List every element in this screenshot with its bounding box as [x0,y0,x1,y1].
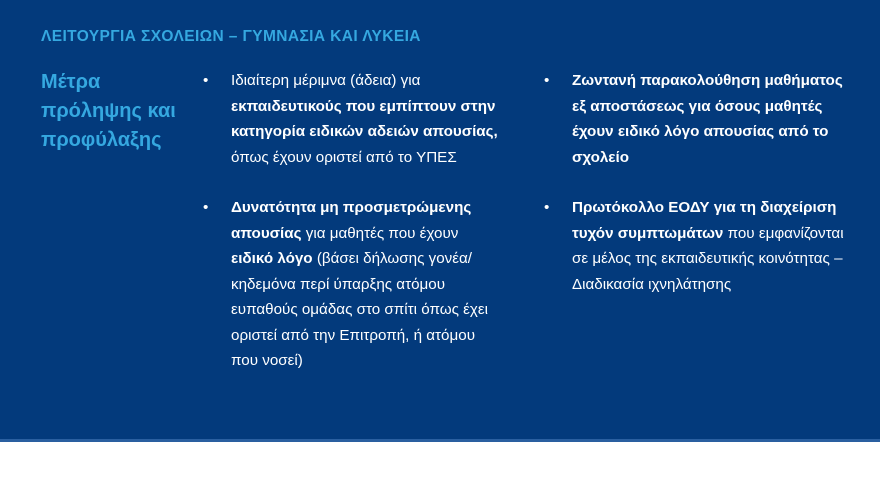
list-item: • Δυνατότητα μη προσμετρώμενης απουσίας … [203,195,498,374]
slide-title: ΛΕΙΤΟΥΡΓΙΑ ΣΧΟΛΕΙΩΝ – ΓΥΜΝΑΣΙΑ ΚΑΙ ΛΥΚΕΙ… [41,27,831,47]
section-heading: Μέτρα πρόληψης και προφύλαξης [41,68,191,155]
bullet-marker-icon: • [544,195,572,221]
bullet-marker-icon: • [203,195,231,221]
bullet-text: Πρωτόκολλο ΕΟΔΥ για τη διαχείριση τυχόν … [572,195,854,297]
slide-footer: ΕΛΛΗΝΙΚΗ ΔΗΜΟΚΡΑΤΙΑ Υπουργείο Παιδείας κ… [0,442,880,495]
bullet-marker-icon: • [203,68,231,94]
bullet-column-left: • Ιδιαίτερη μέριμνα (άδεια) για εκπαιδευ… [203,68,498,374]
bullet-text: Ζωντανή παρακολούθηση μαθήματος εξ αποστ… [572,68,854,170]
slide-canvas: ΛΕΙΤΟΥΡΓΙΑ ΣΧΟΛΕΙΩΝ – ΓΥΜΝΑΣΙΑ ΚΑΙ ΛΥΚΕΙ… [0,0,880,495]
list-item: • Πρωτόκολλο ΕΟΔΥ για τη διαχείριση τυχό… [544,195,854,297]
list-item: • Ιδιαίτερη μέριμνα (άδεια) για εκπαιδευ… [203,68,498,170]
list-item: • Ζωντανή παρακολούθηση μαθήματος εξ απο… [544,68,854,170]
bullet-text: Ιδιαίτερη μέριμνα (άδεια) για εκπαιδευτι… [231,68,498,170]
bullet-text: Δυνατότητα μη προσμετρώμενης απουσίας γι… [231,195,498,374]
bullet-column-right: • Ζωντανή παρακολούθηση μαθήματος εξ απο… [544,68,854,297]
bullet-marker-icon: • [544,68,572,94]
